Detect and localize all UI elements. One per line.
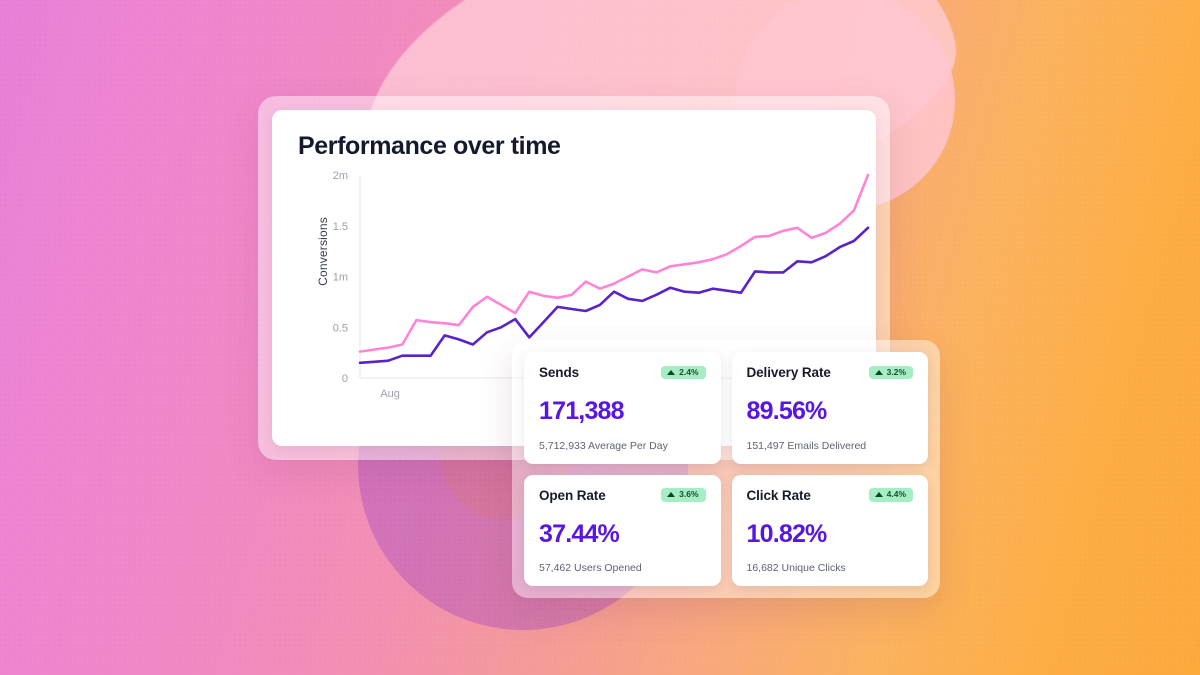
y-axis-tick-label: 0 [342, 373, 348, 385]
stat-card-subtext: 16,682 Unique Clicks [747, 562, 914, 574]
stat-card-subtext: 57,462 Users Opened [539, 562, 706, 574]
status-badge: 3.2% [869, 366, 913, 380]
stat-card-value: 37.44% [539, 522, 706, 547]
status-badge: 2.4% [661, 366, 705, 380]
y-axis-tick-label: 1m [333, 272, 348, 284]
status-badge-value: 4.4% [887, 490, 906, 499]
stat-card-value: 171,388 [539, 399, 706, 424]
stat-card[interactable]: Click Rate4.4%10.82%16,682 Unique Clicks [732, 475, 929, 587]
stat-cards-frame: Sends2.4%171,3885,712,933 Average Per Da… [512, 340, 940, 598]
stat-card-header: Delivery Rate3.2% [747, 365, 914, 380]
status-badge: 3.6% [661, 488, 705, 502]
status-badge-value: 3.2% [887, 368, 906, 377]
stat-card-label: Sends [539, 365, 579, 380]
page-title: Performance over time [298, 132, 850, 161]
status-badge-value: 3.6% [679, 490, 698, 499]
stat-card-subtext: 5,712,933 Average Per Day [539, 440, 706, 452]
stat-card-label: Open Rate [539, 488, 606, 503]
stat-card-header: Click Rate4.4% [747, 488, 914, 503]
triangle-up-icon [875, 492, 883, 497]
stat-card-header: Sends2.4% [539, 365, 706, 380]
stat-card-label: Click Rate [747, 488, 811, 503]
stat-card-subtext: 151,497 Emails Delivered [747, 440, 914, 452]
stat-card[interactable]: Delivery Rate3.2%89.56%151,497 Emails De… [732, 352, 929, 464]
triangle-up-icon [667, 370, 675, 375]
stat-card[interactable]: Sends2.4%171,3885,712,933 Average Per Da… [524, 352, 721, 464]
y-axis-tick-label: 1.5 [333, 221, 348, 233]
x-axis-tick-label: Aug [380, 388, 400, 400]
chart-series-line [360, 175, 868, 352]
status-badge-value: 2.4% [679, 368, 698, 377]
status-badge: 4.4% [869, 488, 913, 502]
y-axis-tick-label: 0.5 [333, 322, 348, 334]
y-axis-tick-label: 2m [333, 170, 348, 182]
stat-card-label: Delivery Rate [747, 365, 831, 380]
stat-card[interactable]: Open Rate3.6%37.44%57,462 Users Opened [524, 475, 721, 587]
stat-card-value: 89.56% [747, 399, 914, 424]
stat-card-header: Open Rate3.6% [539, 488, 706, 503]
stat-cards-grid: Sends2.4%171,3885,712,933 Average Per Da… [524, 352, 928, 586]
triangle-up-icon [667, 492, 675, 497]
stat-card-value: 10.82% [747, 522, 914, 547]
triangle-up-icon [875, 370, 883, 375]
